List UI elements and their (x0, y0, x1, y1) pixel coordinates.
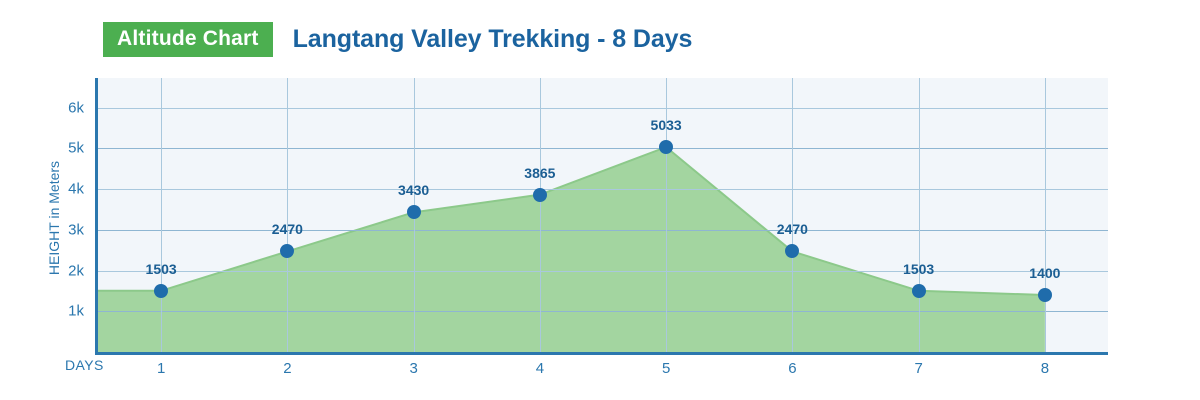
y-axis-tick-label: 3k (68, 221, 84, 238)
data-point-label: 5033 (651, 117, 682, 133)
page-title: Langtang Valley Trekking - 8 Days (293, 25, 693, 54)
data-point[interactable] (533, 188, 547, 202)
x-axis-tick-label: 7 (914, 360, 922, 377)
gridline-horizontal (98, 189, 1108, 190)
data-point-label: 2470 (777, 221, 808, 237)
x-axis-tick-label: 8 (1041, 360, 1049, 377)
area-fill-path (98, 147, 1045, 352)
gridline-vertical (161, 78, 162, 352)
x-axis-tick-label: 3 (409, 360, 417, 377)
altitude-chart-badge: Altitude Chart (103, 22, 273, 57)
gridline-vertical (1045, 78, 1046, 352)
data-point[interactable] (407, 205, 421, 219)
y-axis-tick-label: 6k (68, 99, 84, 116)
gridline-vertical (540, 78, 541, 352)
data-point-label: 1400 (1029, 265, 1060, 281)
data-point[interactable] (154, 284, 168, 298)
x-axis-tick-label: 4 (536, 360, 544, 377)
y-axis-tick-label: 1k (68, 303, 84, 320)
y-axis-title: HEIGHT in Meters (46, 88, 62, 348)
y-axis-tick-label: 5k (68, 140, 84, 157)
x-axis-tick-label: 2 (283, 360, 291, 377)
gridline-horizontal (98, 148, 1108, 149)
data-point-label: 1503 (146, 261, 177, 277)
data-point-label: 3865 (524, 165, 555, 181)
x-axis-tick-label: 1 (157, 360, 165, 377)
gridline-vertical (792, 78, 793, 352)
altitude-area-chart: 6k5k4k3k2k1k 12345678 150324703430386550… (95, 78, 1108, 355)
y-axis-tick-label: 2k (68, 262, 84, 279)
data-point-label: 2470 (272, 221, 303, 237)
x-axis-tick-label: 6 (788, 360, 796, 377)
chart-header: Altitude Chart Langtang Valley Trekking … (0, 0, 1200, 78)
gridline-horizontal (98, 271, 1108, 272)
y-axis-tick-label: 4k (68, 181, 84, 198)
gridline-vertical (919, 78, 920, 352)
x-axis-tick-label: 5 (662, 360, 670, 377)
data-point-label: 1503 (903, 261, 934, 277)
data-point[interactable] (912, 284, 926, 298)
gridline-horizontal (98, 108, 1108, 109)
gridline-horizontal (98, 311, 1108, 312)
data-point-label: 3430 (398, 182, 429, 198)
gridline-horizontal (98, 230, 1108, 231)
gridline-vertical (287, 78, 288, 352)
data-point[interactable] (1038, 288, 1052, 302)
x-axis-title: DAYS (65, 357, 104, 373)
